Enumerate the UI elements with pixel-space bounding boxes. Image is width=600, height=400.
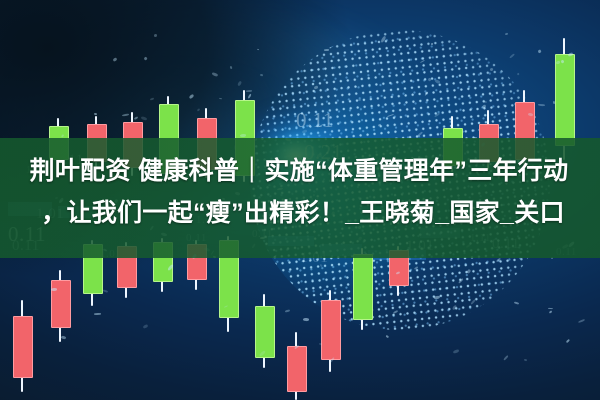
candlestick xyxy=(321,290,339,372)
candlestick xyxy=(255,294,273,368)
candle-body xyxy=(555,54,575,146)
candle-body xyxy=(321,300,341,360)
banner-image: 0.110.210.111.010.110.111.011.011.011.11… xyxy=(0,0,600,400)
candle-body xyxy=(287,346,307,392)
headline-line-2: ，让我们一起“瘦”出精彩！_王晓菊_国家_关口 xyxy=(0,192,600,234)
headline-line-1: 荆叶配资 健康科普｜实施“体重管理年”三年行动 xyxy=(0,150,600,192)
headline: 荆叶配资 健康科普｜实施“体重管理年”三年行动 ，让我们一起“瘦”出精彩！_王晓… xyxy=(0,150,600,234)
candlestick xyxy=(13,300,31,392)
candle-body xyxy=(51,280,71,328)
candlestick xyxy=(287,332,305,400)
candle-body xyxy=(13,316,33,378)
candle-body xyxy=(353,254,373,320)
candle-body xyxy=(255,306,275,358)
candlestick xyxy=(51,270,69,342)
candlestick xyxy=(353,248,371,330)
